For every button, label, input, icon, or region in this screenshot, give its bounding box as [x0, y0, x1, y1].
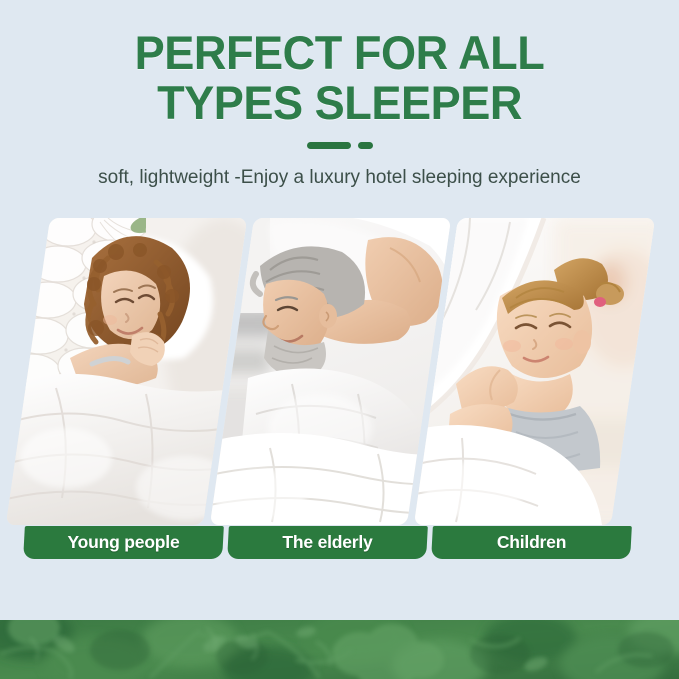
- elderly-man-resting-illustration: [210, 218, 451, 525]
- promo-banner: PERFECT FOR ALL TYPES SLEEPER soft, ligh…: [0, 0, 679, 679]
- page-title: PERFECT FOR ALL TYPES SLEEPER: [0, 28, 679, 128]
- panel-young-people[interactable]: Young people: [28, 218, 225, 566]
- panel-label-text: Young people: [24, 532, 223, 553]
- young-woman-sleeping-illustration: [6, 218, 247, 525]
- photo-clip: [414, 218, 655, 525]
- panel-photo-the-elderly: [210, 218, 451, 525]
- panel-row: Young people: [0, 218, 679, 566]
- header-section: PERFECT FOR ALL TYPES SLEEPER soft, ligh…: [0, 0, 679, 210]
- title-line-2: TYPES SLEEPER: [14, 78, 666, 128]
- panel-label-text: The elderly: [228, 532, 427, 553]
- panel-photo-children: [414, 218, 655, 525]
- panel-label-bar-young-people[interactable]: Young people: [23, 526, 224, 559]
- panel-label-bar-the-elderly[interactable]: The elderly: [227, 526, 428, 559]
- subtitle: soft, lightweight -Enjoy a luxury hotel …: [0, 165, 679, 191]
- divider: [0, 140, 679, 150]
- panel-the-elderly[interactable]: The elderly: [232, 218, 429, 566]
- panel-label-text: Children: [432, 532, 631, 553]
- photo-clip: [6, 218, 247, 525]
- panel-children[interactable]: Children: [436, 218, 633, 566]
- panel-photo-young-people: [6, 218, 247, 525]
- panel-label-bar-children[interactable]: Children: [431, 526, 632, 559]
- blurred-leaves-graphic: [0, 620, 679, 679]
- foliage-band: [0, 620, 679, 679]
- title-line-1: PERFECT FOR ALL: [14, 28, 666, 78]
- divider-dash-long: [307, 142, 351, 149]
- divider-dash-short: [358, 142, 373, 149]
- photo-clip: [210, 218, 451, 525]
- toddler-sleeping-illustration: [414, 218, 655, 525]
